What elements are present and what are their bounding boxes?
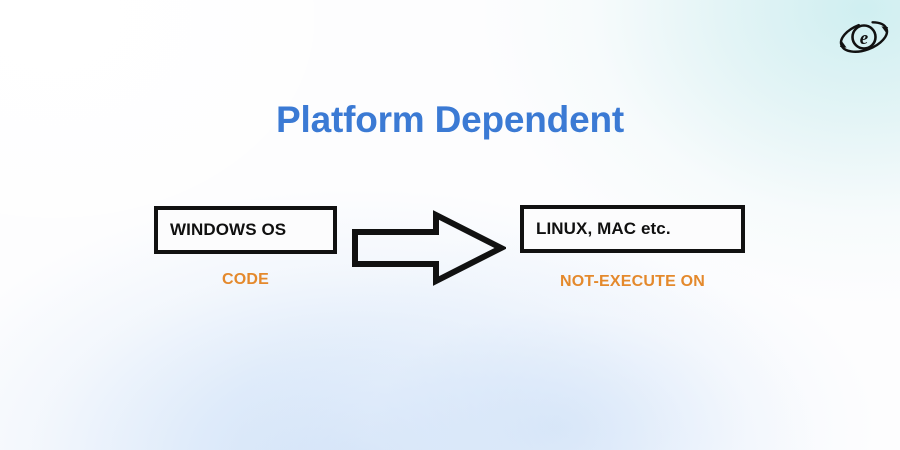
logo-letter: e <box>860 28 869 49</box>
target-os-box: LINUX, MAC etc. <box>520 205 745 253</box>
slide-canvas: e Platform Dependent WINDOWS OS CODE LIN… <box>0 0 900 450</box>
target-os-label: LINUX, MAC etc. <box>524 219 671 239</box>
target-caption: NOT-EXECUTE ON <box>520 273 745 291</box>
source-os-box: WINDOWS OS <box>154 206 337 254</box>
e-logo: e <box>836 12 892 62</box>
flow-arrow-right-icon <box>350 208 506 288</box>
source-os-label: WINDOWS OS <box>158 220 286 240</box>
page-title: Platform Dependent <box>0 99 900 141</box>
source-caption: CODE <box>154 271 337 289</box>
